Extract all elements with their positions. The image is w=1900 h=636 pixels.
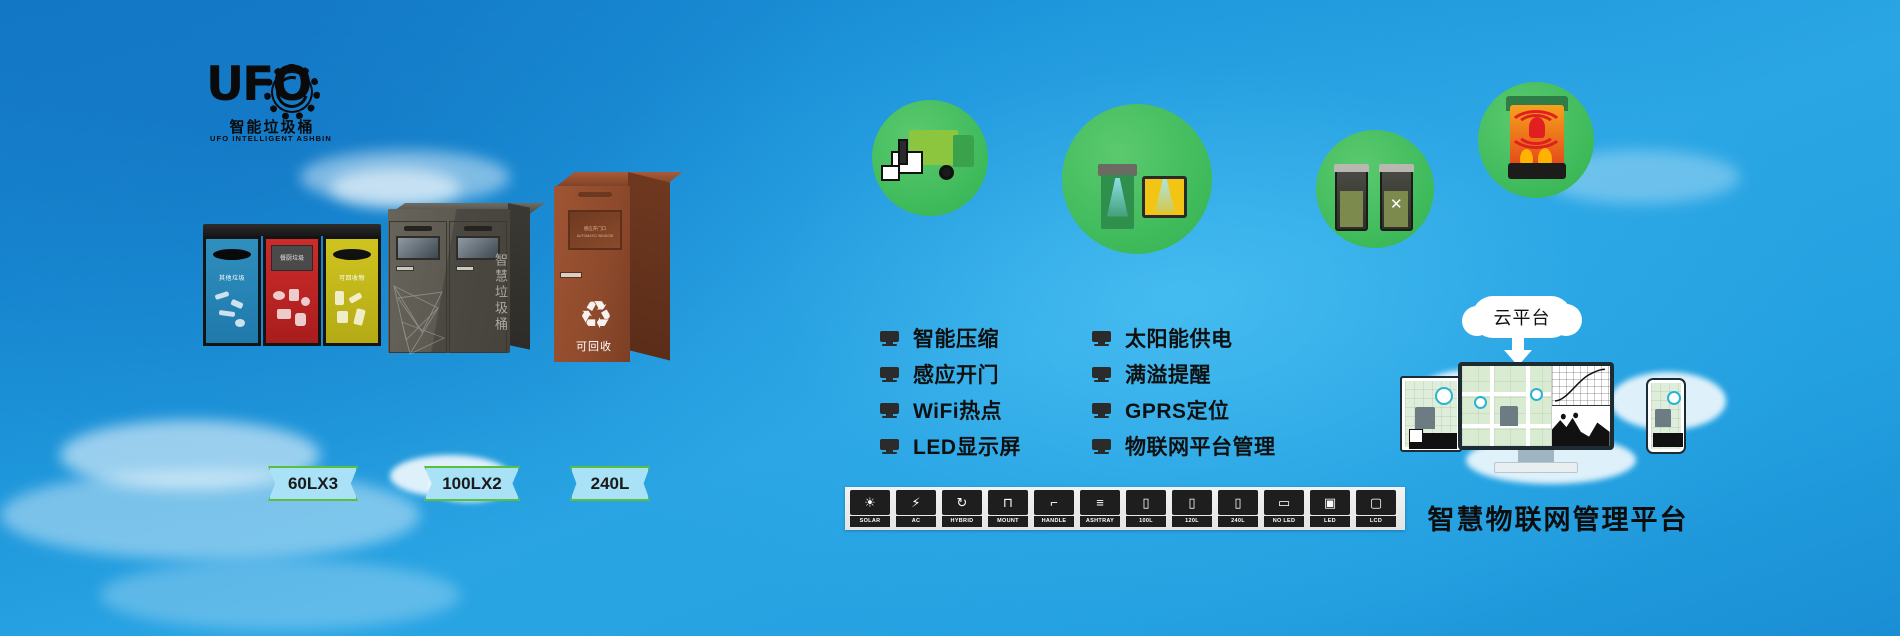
- mount-icon: ⊓: [988, 490, 1028, 515]
- option-label: ASHTRAY: [1080, 516, 1120, 527]
- feature-item: 物联网平台管理: [1092, 428, 1276, 464]
- option-label: LCD: [1356, 516, 1396, 527]
- fire-bin-base-icon: [1508, 163, 1566, 179]
- area-chart-shape: [1552, 406, 1610, 446]
- chart-bars-icon: [1653, 433, 1683, 447]
- product-badge-100l: 100LX2: [424, 466, 520, 501]
- bin-waste-graphic: [331, 287, 373, 337]
- option-mount[interactable]: ⊓ MOUNT: [986, 490, 1030, 527]
- feature-label: WiFi热点: [913, 395, 1002, 425]
- fire-alarm-icon: [1478, 82, 1594, 198]
- sensor-fill-detection-icon: [1062, 104, 1212, 254]
- bin-waste-graphic: [271, 287, 313, 337]
- screen-line-2: AUTOMATIC WINDOW: [570, 233, 620, 240]
- product-bin-240l: 感应开门口 AUTOMATIC WINDOW ♻ 可回收: [554, 172, 670, 362]
- compaction-lid-right: [1379, 164, 1414, 172]
- bin-slot-icon: [213, 249, 251, 260]
- bin-side-panel: [508, 203, 530, 350]
- truck-cab-icon: [953, 135, 974, 167]
- tablet-icon: [881, 165, 900, 181]
- building-icon: [1415, 407, 1435, 429]
- bin-handle-icon: [396, 266, 414, 271]
- brand-logo: UFO 智能垃圾桶 UFO INTELLIGENT ASHBIN: [206, 58, 326, 150]
- line-chart: [1552, 366, 1610, 406]
- option-solar[interactable]: ☀ SOLAR: [848, 490, 892, 527]
- feature-label: GPRS定位: [1125, 395, 1230, 425]
- option-label: AC: [896, 516, 936, 527]
- feature-column-left: 智能压缩 感应开门 WiFi热点 LED显示屏: [880, 320, 1021, 464]
- option-led[interactable]: ▣ LED: [1308, 490, 1352, 527]
- feature-item: WiFi热点: [880, 392, 1021, 428]
- bin-window: [396, 236, 440, 260]
- dashboard-screen: [1462, 366, 1610, 446]
- bin-side-panel: [628, 172, 670, 360]
- building-icon: [1500, 406, 1518, 426]
- desktop-monitor: [1458, 362, 1614, 450]
- recycle-icon: ♻: [576, 296, 616, 336]
- feature-label: 太阳能供电: [1125, 323, 1233, 353]
- ashtray-icon: ≡: [1080, 490, 1120, 515]
- cloud-decor: [0, 470, 420, 560]
- map-pin-icon: [1530, 388, 1543, 401]
- compaction-lid-left: [1334, 164, 1369, 172]
- alarm-wave-icon: [1507, 110, 1565, 149]
- iot-platform-illustration: 云平台: [1400, 296, 1730, 486]
- bin-display-panel: 餐厨垃圾: [271, 245, 313, 271]
- bin-slot-icon: [333, 249, 371, 260]
- badge-label: 100LX2: [442, 474, 502, 494]
- dashboard-charts: [1551, 366, 1610, 446]
- smart-collection-icon: [872, 100, 988, 216]
- phone-map-view: [1651, 383, 1681, 449]
- option-label: HANDLE: [1034, 516, 1074, 527]
- option-lcd[interactable]: ▢ LCD: [1354, 490, 1398, 527]
- option-label: HYBRID: [942, 516, 982, 527]
- truck-wheel-icon: [939, 165, 954, 180]
- product-badge-60l: 60LX3: [268, 466, 358, 501]
- led-bar-icon: [464, 226, 492, 231]
- feature-label: 智能压缩: [913, 323, 999, 353]
- feature-item: LED显示屏: [880, 428, 1021, 464]
- logo-english-name: UFO INTELLIGENT ASHBIN: [210, 134, 328, 143]
- phone-device: [1646, 378, 1686, 454]
- product-bins-60l: 其他垃圾 餐厨垃圾 可回收物: [203, 224, 381, 346]
- feature-item: 智能压缩: [880, 320, 1021, 356]
- badge-label: 60LX3: [288, 474, 338, 494]
- option-label: 100L: [1126, 516, 1166, 527]
- option-label: MOUNT: [988, 516, 1028, 527]
- screen-line-1: 感应开门口: [570, 225, 620, 232]
- bin-120l-icon: ▯: [1172, 490, 1212, 515]
- area-chart: [1552, 406, 1610, 446]
- led-icon: ▣: [1310, 490, 1350, 515]
- bin-screen: 感应开门口 AUTOMATIC WINDOW: [568, 210, 622, 250]
- bin-door-left: [389, 221, 447, 353]
- option-label: LED: [1310, 516, 1350, 527]
- option-240l[interactable]: ▯ 240L: [1216, 490, 1260, 527]
- map-pin-icon: [1474, 396, 1487, 409]
- map-road: [1526, 366, 1530, 446]
- sun-icon: ☀: [850, 490, 890, 515]
- monitor-icon: [1092, 367, 1111, 382]
- bin-compartment-red: 餐厨垃圾: [263, 236, 321, 346]
- badge-label: 240L: [591, 474, 630, 494]
- option-ac[interactable]: ⚡ AC: [894, 490, 938, 527]
- compaction-icon: ✕: [1316, 130, 1434, 248]
- option-120l[interactable]: ▯ 120L: [1170, 490, 1214, 527]
- option-ashtray[interactable]: ≡ ASHTRAY: [1078, 490, 1122, 527]
- feature-label: LED显示屏: [913, 431, 1021, 461]
- monitor-icon: [880, 403, 899, 418]
- map-pin-icon: [1667, 391, 1681, 405]
- map-pin-icon: [1435, 387, 1453, 405]
- bin-label: 可回收物: [326, 273, 378, 282]
- bin-compartment-blue: 其他垃圾: [203, 236, 261, 346]
- product-badge-240l: 240L: [570, 466, 650, 501]
- option-label: 240L: [1218, 516, 1258, 527]
- option-no-led[interactable]: ▭ NO LED: [1262, 490, 1306, 527]
- feature-label: 物联网平台管理: [1125, 431, 1276, 461]
- option-100l[interactable]: ▯ 100L: [1124, 490, 1168, 527]
- feature-label: 感应开门: [913, 359, 999, 389]
- lcd-icon: ▢: [1356, 490, 1396, 515]
- bin-graphic-polygons: [392, 278, 448, 358]
- bin-240l-icon: ▯: [1218, 490, 1258, 515]
- option-icon-strip: ☀ SOLAR ⚡ AC ↻ HYBRID ⊓ MOUNT ⌐ HANDLE ≡…: [845, 487, 1405, 530]
- banner-stage: UFO 智能垃圾桶 UFO INTELLIGENT ASHBIN 其他垃圾 餐厨…: [0, 0, 1900, 636]
- cloud-platform-label: 云平台: [1472, 296, 1572, 338]
- dashboard-map: [1462, 366, 1551, 446]
- cloud-platform-text: 云平台: [1494, 304, 1551, 330]
- map-road: [1490, 366, 1494, 446]
- line-chart-curve: [1554, 368, 1606, 403]
- monitor-icon: [1092, 403, 1111, 418]
- bin-compartment-yellow: 可回收物: [323, 236, 381, 346]
- cloud-decor: [300, 150, 510, 204]
- led-bar-icon: [404, 226, 432, 231]
- monitor-base: [1494, 462, 1578, 473]
- monitor-icon: [880, 367, 899, 382]
- tablet-map-view: [1405, 381, 1457, 447]
- bin-body: 感应开门口 AUTOMATIC WINDOW ♻ 可回收: [554, 186, 630, 362]
- bin-top-rail: [203, 224, 381, 236]
- no-led-icon: ▭: [1264, 490, 1304, 515]
- monitor-icon: [1092, 331, 1111, 346]
- compaction-cross-icon: ✕: [1389, 191, 1403, 219]
- bin-body: 智慧垃圾桶: [388, 209, 510, 353]
- feature-item: GPRS定位: [1092, 392, 1276, 428]
- monitor-icon: [1092, 439, 1111, 454]
- option-hybrid[interactable]: ↻ HYBRID: [940, 490, 984, 527]
- cloud-decor: [330, 168, 460, 208]
- feature-item: 感应开门: [880, 356, 1021, 392]
- bin-handle-icon: [560, 272, 582, 278]
- monitor-icon: [880, 439, 899, 454]
- led-bar-icon: [578, 192, 612, 197]
- recycle-label: 可回收: [564, 338, 624, 354]
- bin-waste-graphic: [211, 287, 253, 337]
- feature-item: 满溢提醒: [1092, 356, 1276, 392]
- bin-vertical-text: 智慧垃圾桶: [491, 253, 510, 333]
- bin-100l-icon: ▯: [1126, 490, 1166, 515]
- feature-label: 满溢提醒: [1125, 359, 1211, 389]
- product-bins-100l: 智慧垃圾桶: [388, 203, 538, 353]
- feature-item: 太阳能供电: [1092, 320, 1276, 356]
- option-label: NO LED: [1264, 516, 1304, 527]
- phone-icon: [898, 139, 908, 165]
- monitor-icon: [880, 331, 899, 346]
- building-icon: [1655, 409, 1671, 427]
- plug-icon: ⚡: [896, 490, 936, 515]
- option-label: SOLAR: [850, 516, 890, 527]
- chart-thumb-icon: [1409, 429, 1423, 443]
- option-handle[interactable]: ⌐ HANDLE: [1032, 490, 1076, 527]
- compaction-fill-left: [1340, 191, 1364, 226]
- bin-handle-icon: [456, 266, 474, 271]
- monitor-stand: [1518, 450, 1554, 462]
- tablet-device: [1400, 376, 1462, 452]
- cloud-decor: [100, 560, 460, 630]
- bin-label: 其他垃圾: [206, 273, 258, 282]
- feature-column-right: 太阳能供电 满溢提醒 GPRS定位 物联网平台管理: [1092, 320, 1276, 464]
- hybrid-icon: ↻: [942, 490, 982, 515]
- option-label: 120L: [1172, 516, 1212, 527]
- platform-title: 智慧物联网管理平台: [1403, 498, 1713, 537]
- handle-icon: ⌐: [1034, 490, 1074, 515]
